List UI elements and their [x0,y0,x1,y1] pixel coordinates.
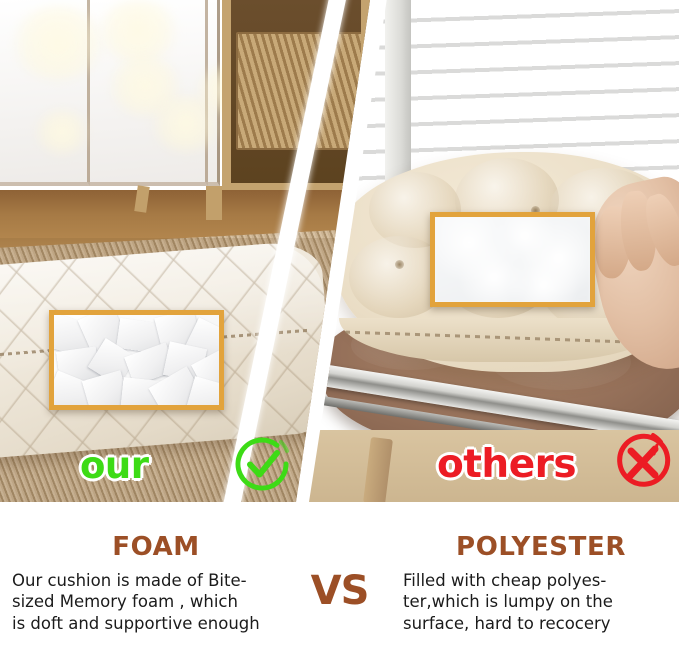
foam-info-column: FOAM Our cushion is made of Bite- sized … [0,502,300,634]
left-product-photo [0,0,370,502]
cabinet-leg [206,186,222,220]
polyester-info-column: POLYESTER Filled with cheap polyes- ter,… [379,502,679,634]
shredded-foam-closeup [54,315,219,405]
cross-circle-icon [611,431,673,493]
foam-fill-callout [49,310,224,410]
product-comparison-infographic: our others FOAM Our cushion is made of B… [0,0,679,652]
overlay-label-others: others [437,445,576,484]
polyester-description: Filled with cheap polyes- ter,which is l… [403,570,679,634]
sunlight-dapple [34,110,90,154]
foam-heading: FOAM [12,532,300,562]
vs-divider-label: VS [300,502,379,614]
polyester-fiberfill-closeup [435,217,590,302]
right-product-photo [309,0,679,502]
shelf-frame [222,0,370,192]
tuft-dimple [395,260,404,269]
sunlight-dapple [96,0,180,62]
sunlight-dapple [10,6,106,80]
photo-comparison-band: our others [0,0,679,502]
polyester-fill-callout [430,212,595,307]
comparison-info-panel: FOAM Our cushion is made of Bite- sized … [0,502,679,652]
foam-description: Our cushion is made of Bite- sized Memor… [12,570,300,634]
overlay-label-our: our [80,447,149,484]
check-circle-icon [231,433,293,495]
polyester-heading: POLYESTER [403,532,679,562]
